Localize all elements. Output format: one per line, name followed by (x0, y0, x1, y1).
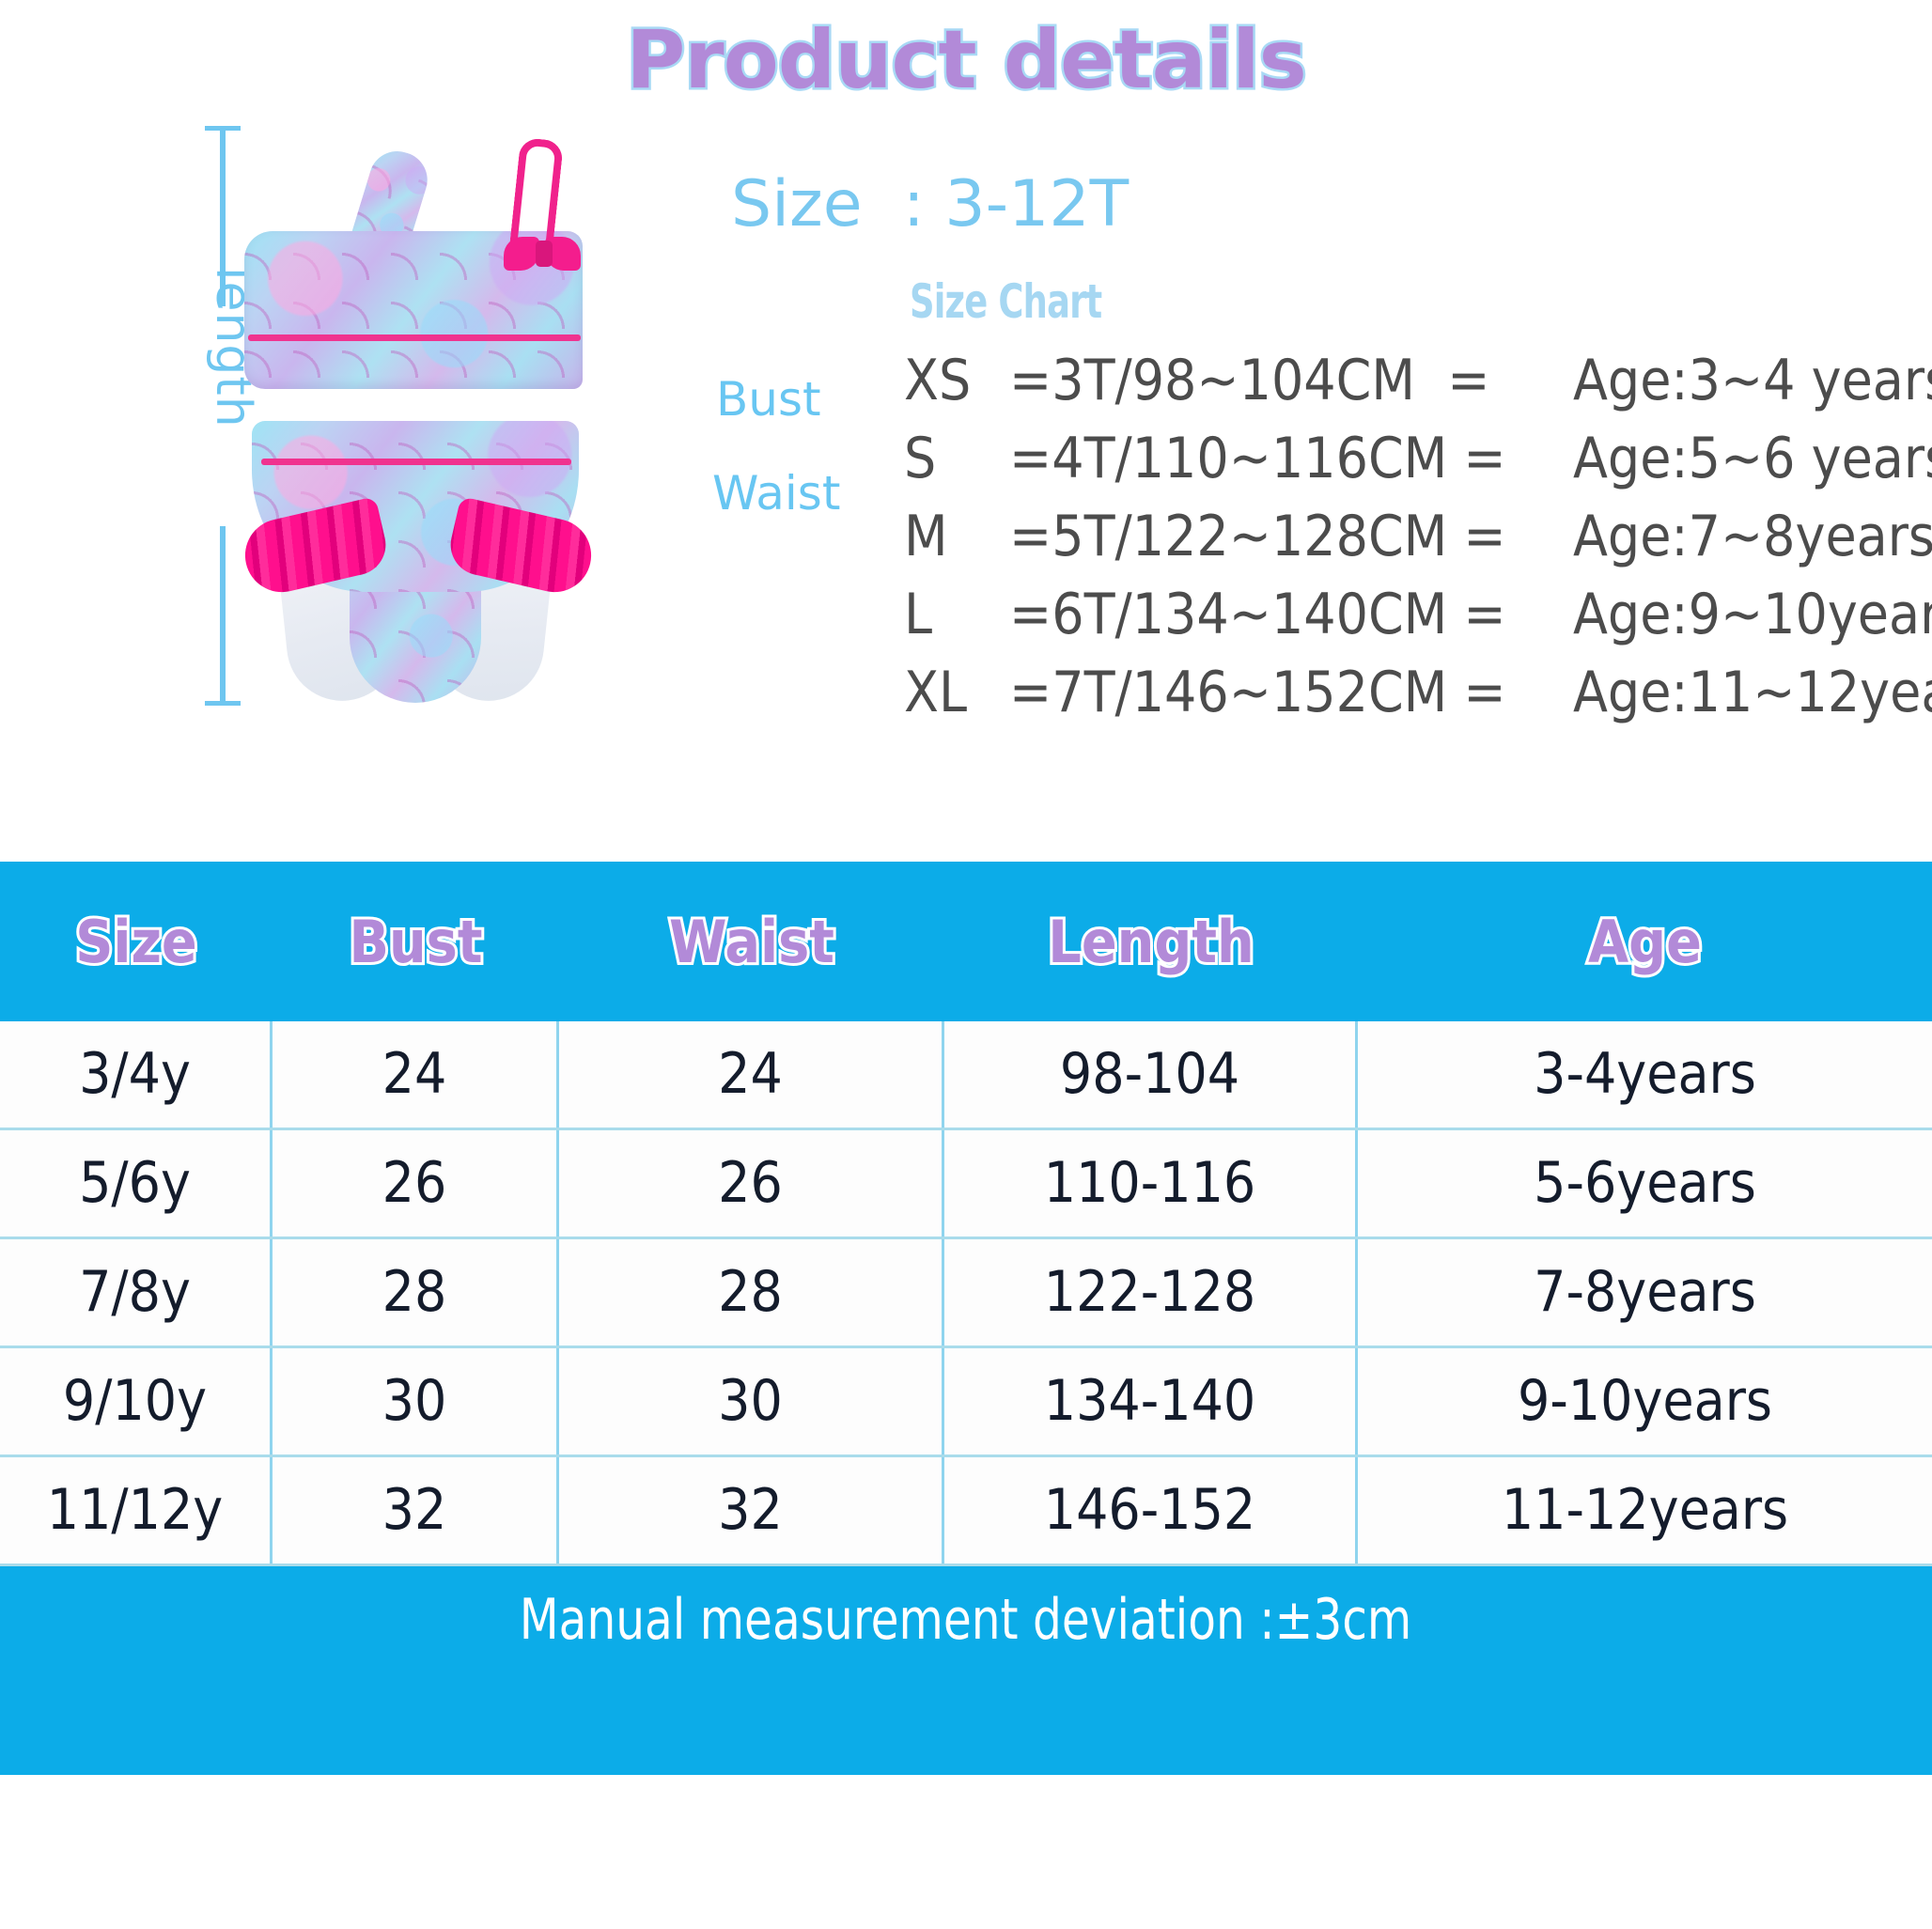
size-list-row: XL =7T/146~152CM = Age:11~12years (904, 660, 1928, 738)
cell-waist: 30 (559, 1348, 944, 1455)
size-measurement: =5T/122~128CM = (1009, 504, 1573, 569)
cell-waist: 32 (559, 1457, 944, 1563)
table-header-bust: Bust (273, 908, 559, 976)
table-row: 9/10y 30 30 134-140 9-10years (0, 1348, 1932, 1457)
cell-bust: 30 (273, 1348, 559, 1455)
cell-length: 122-128 (944, 1239, 1358, 1346)
size-measurement: =7T/146~152CM = (1009, 660, 1573, 725)
size-age: Age:7~8years (1573, 504, 1932, 569)
size-code: XL (904, 660, 1009, 725)
length-measure-line-bottom (220, 526, 226, 705)
table-row: 7/8y 28 28 122-128 7-8years (0, 1239, 1932, 1348)
cell-age: 9-10years (1358, 1348, 1932, 1455)
table-header-waist: Waist (559, 908, 944, 976)
size-conversion-list: XS =3T/98~104CM = Age:3~4 years S =4T/11… (904, 348, 1928, 738)
cell-waist: 28 (559, 1239, 944, 1346)
size-measurement: =4T/110~116CM = (1009, 426, 1573, 491)
size-list-row: M =5T/122~128CM = Age:7~8years (904, 504, 1928, 582)
table-row: 11/12y 32 32 146-152 11-12years (0, 1457, 1932, 1566)
table-row: 5/6y 26 26 110-116 5-6years (0, 1130, 1932, 1239)
table-row: 3/4y 24 24 98-104 3-4years (0, 1021, 1932, 1130)
cell-waist: 24 (559, 1021, 944, 1128)
swimsuit-bottom-image (252, 421, 579, 703)
cell-length: 134-140 (944, 1348, 1358, 1455)
cell-length: 146-152 (944, 1457, 1358, 1563)
size-age: Age:3~4 years (1573, 348, 1932, 413)
size-list-row: L =6T/134~140CM = Age:9~10years (904, 582, 1928, 660)
cell-size: 3/4y (0, 1021, 273, 1128)
cell-age: 3-4years (1358, 1021, 1932, 1128)
cell-size: 11/12y (0, 1457, 273, 1563)
table-header-length: Length (944, 908, 1358, 976)
length-measure-cap-top (205, 126, 241, 131)
bow-center-knot (536, 241, 553, 267)
cell-age: 7-8years (1358, 1239, 1932, 1346)
cell-size: 9/10y (0, 1348, 273, 1455)
table-header-size: Size (0, 908, 273, 976)
waist-measure-line (261, 459, 571, 465)
bust-measure-line (248, 334, 581, 341)
size-code: M (904, 504, 1009, 569)
table-footer-band: Manual measurement deviation :±3cm (0, 1566, 1932, 1775)
cell-size: 5/6y (0, 1130, 273, 1237)
table-header-row: Size Bust Waist Length Age (0, 862, 1932, 1021)
size-headline: Size : 3-12T (731, 167, 1129, 241)
size-measurement: =3T/98~104CM = (1009, 348, 1573, 413)
size-table: Size Bust Waist Length Age 3/4y 24 24 98… (0, 862, 1932, 1775)
cell-length: 110-116 (944, 1130, 1358, 1237)
size-code: S (904, 426, 1009, 491)
cell-bust: 24 (273, 1021, 559, 1128)
cell-length: 98-104 (944, 1021, 1358, 1128)
cell-size: 7/8y (0, 1239, 273, 1346)
cell-bust: 32 (273, 1457, 559, 1563)
page-title: Product details (0, 13, 1932, 107)
product-photo: length (197, 122, 705, 770)
cell-age: 11-12years (1358, 1457, 1932, 1563)
size-list-row: S =4T/110~116CM = Age:5~6 years (904, 426, 1928, 504)
waist-callout-label: Waist (712, 466, 840, 521)
size-age: Age:9~10years (1573, 582, 1932, 647)
cell-bust: 26 (273, 1130, 559, 1237)
swimsuit-top-image (244, 150, 583, 390)
table-header-age: Age (1358, 908, 1932, 976)
cell-bust: 28 (273, 1239, 559, 1346)
size-code: XS (904, 348, 1009, 413)
cell-waist: 26 (559, 1130, 944, 1237)
size-chart-label: Size Chart (910, 274, 1101, 329)
bust-callout-label: Bust (716, 372, 821, 427)
size-code: L (904, 582, 1009, 647)
pink-bow-icon (504, 233, 583, 274)
measurement-deviation-note: Manual measurement deviation :±3cm (520, 1587, 1412, 1775)
size-age: Age:5~6 years (1573, 426, 1932, 491)
size-list-row: XS =3T/98~104CM = Age:3~4 years (904, 348, 1928, 426)
length-measure-cap-bottom (205, 701, 241, 706)
size-measurement: =6T/134~140CM = (1009, 582, 1573, 647)
size-age: Age:11~12years (1573, 660, 1932, 725)
cell-age: 5-6years (1358, 1130, 1932, 1237)
